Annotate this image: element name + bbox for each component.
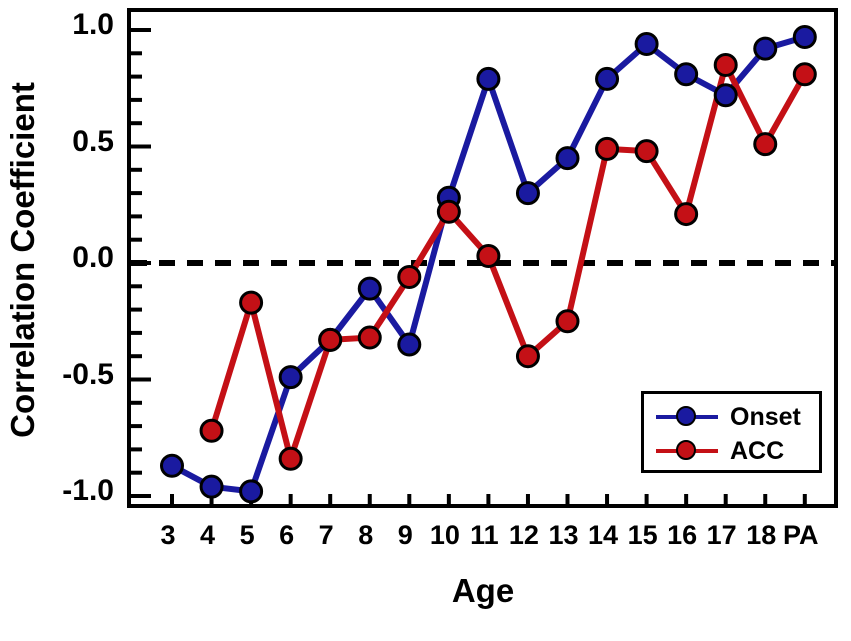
data-point	[794, 64, 815, 85]
x-axis-title: Age	[127, 572, 839, 610]
data-point	[201, 420, 222, 441]
data-point	[478, 246, 499, 267]
x-tick-label: 18	[731, 522, 791, 549]
x-tick-label: 7	[296, 522, 356, 549]
data-point	[636, 141, 657, 162]
data-point	[320, 329, 341, 350]
x-tick-label: 8	[336, 522, 396, 549]
y-axis-title-text: Correlation Coefficient	[4, 82, 42, 438]
data-point	[597, 138, 618, 159]
legend-label-onset: Onset	[730, 403, 801, 432]
data-point	[715, 85, 736, 106]
x-tick-label: 5	[217, 522, 277, 549]
data-point	[162, 455, 183, 476]
data-point	[359, 327, 380, 348]
data-point	[201, 476, 222, 497]
x-tick-label: 4	[178, 522, 238, 549]
data-point	[676, 204, 697, 225]
x-tick-label: 17	[692, 522, 752, 549]
data-point	[241, 292, 262, 313]
x-tick-label: 6	[257, 522, 317, 549]
data-point	[676, 64, 697, 85]
data-point	[359, 278, 380, 299]
data-point	[755, 38, 776, 59]
data-point	[794, 26, 815, 47]
data-point	[755, 134, 776, 155]
x-tick-label: 15	[613, 522, 673, 549]
x-tick-label: 14	[573, 522, 633, 549]
x-tick-label: 12	[494, 522, 554, 549]
legend-item-onset: Onset	[644, 400, 819, 434]
data-point	[597, 68, 618, 89]
data-point	[478, 68, 499, 89]
legend: Onset ACC	[641, 391, 822, 473]
data-point	[280, 367, 301, 388]
x-tick-label: 16	[652, 522, 712, 549]
legend-marker-acc	[656, 439, 718, 463]
data-point	[438, 201, 459, 222]
data-point	[557, 311, 578, 332]
data-point	[517, 183, 538, 204]
x-tick-label: PA	[771, 522, 831, 549]
legend-marker-onset	[656, 405, 718, 429]
data-point	[715, 54, 736, 75]
x-tick-label: 10	[415, 522, 475, 549]
y-axis-title: Correlation Coefficient	[0, 0, 46, 520]
x-tick-label: 3	[138, 522, 198, 549]
legend-label-acc: ACC	[730, 437, 784, 466]
data-point	[399, 334, 420, 355]
chart-figure: Correlation Coefficient 1.00.50.0-0.5-1.…	[0, 0, 851, 641]
data-point	[399, 266, 420, 287]
data-point	[557, 148, 578, 169]
x-tick-label: 11	[454, 522, 514, 549]
data-point	[241, 481, 262, 502]
x-tick-label: 9	[375, 522, 435, 549]
data-point	[636, 33, 657, 54]
data-point	[280, 448, 301, 469]
data-point	[517, 346, 538, 367]
legend-item-acc: ACC	[644, 434, 819, 468]
x-tick-label: 13	[534, 522, 594, 549]
